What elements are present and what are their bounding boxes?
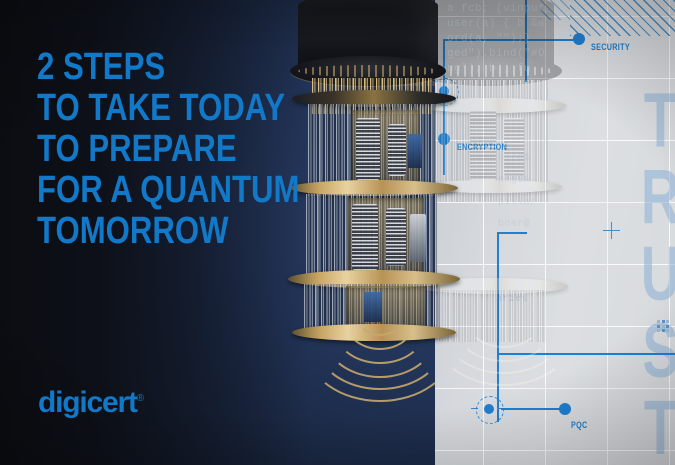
headline-line-2: to Take Today	[37, 88, 300, 129]
poster-canvas: TRUST SECURITY ENCRYPTION PQC	[0, 0, 675, 465]
headline-line-4: for a Quantum	[37, 170, 300, 211]
brand-logo: digicert®	[38, 386, 143, 420]
headline-line-1: 2 Steps	[37, 47, 300, 88]
page-title: 2 Steps to Take Today to Prepare for a Q…	[37, 47, 300, 252]
headline-line-3: to Prepare	[37, 129, 300, 170]
headline-line-5: Tomorrow	[37, 211, 300, 252]
trademark-symbol: ®	[137, 393, 143, 404]
brand-logo-text: digicert	[38, 386, 137, 419]
